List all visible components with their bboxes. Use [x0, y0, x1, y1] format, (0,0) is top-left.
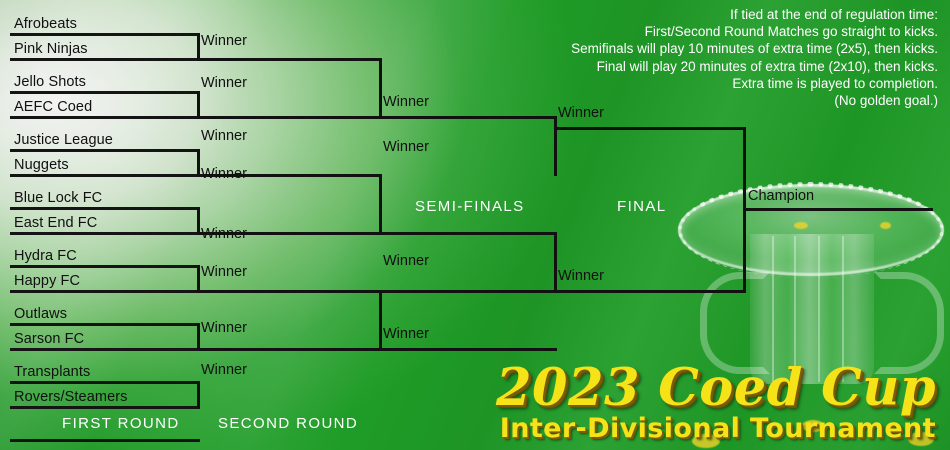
rules-line: Final will play 20 minutes of extra time…: [571, 58, 938, 75]
rules-line: Semifinals will play 10 minutes of extra…: [571, 40, 938, 57]
winner-label: Winner: [201, 128, 247, 144]
round-label-first: FIRST ROUND: [62, 415, 180, 432]
rules-line: Extra time is played to completion.: [571, 75, 938, 92]
bracket-connector: [197, 381, 200, 409]
team-underline: [10, 290, 200, 293]
second-round-line: [197, 290, 382, 293]
bracket-connector: [554, 232, 557, 292]
bracket-connector: [197, 91, 200, 119]
team-slot: Happy FC: [14, 273, 80, 289]
winner-label: Winner: [201, 75, 247, 91]
semifinal-line: [379, 348, 557, 351]
winner-label: Winner: [383, 253, 429, 269]
bracket-connector: [379, 290, 382, 351]
round-label-second: SECOND ROUND: [218, 415, 358, 432]
rules-line: (No golden goal.): [571, 92, 938, 109]
team-underline: [10, 232, 200, 235]
team-slot: AEFC Coed: [14, 99, 92, 115]
semifinal-line: [379, 116, 557, 119]
team-slot: Jello Shots: [14, 74, 86, 90]
bracket-connector: [197, 323, 200, 351]
bracket-connector: [197, 149, 200, 177]
team-underline: [10, 348, 200, 351]
bracket-connector: [197, 265, 200, 293]
team-underline: [10, 174, 200, 177]
team-underline: [10, 149, 200, 152]
team-slot: Afrobeats: [14, 16, 77, 32]
team-underline: [10, 116, 200, 119]
final-line: [554, 127, 746, 130]
team-slot: Hydra FC: [14, 248, 77, 264]
winner-label: Winner: [201, 33, 247, 49]
final-line: [554, 290, 746, 293]
winner-label: Winner: [383, 94, 429, 110]
winner-label: Winner: [201, 362, 247, 378]
round-label-semis: SEMI-FINALS: [415, 198, 525, 215]
team-slot: Transplants: [14, 364, 90, 380]
rules-line: First/Second Round Matches go straight t…: [571, 23, 938, 40]
bracket-connector: [379, 174, 382, 235]
team-underline: [10, 207, 200, 210]
winner-label: Winner: [201, 226, 247, 242]
winner-label: Winner: [383, 139, 429, 155]
bracket-connector: [197, 207, 200, 235]
winner-label: Winner: [201, 320, 247, 336]
winner-label: Winner: [201, 264, 247, 280]
winner-label: Winner: [558, 268, 604, 284]
team-slot: Pink Ninjas: [14, 41, 88, 57]
team-underline: [10, 406, 200, 409]
second-round-line: [197, 348, 382, 351]
team-underline: [10, 91, 200, 94]
team-underline: [10, 323, 200, 326]
semifinal-line: [379, 290, 557, 293]
team-underline: [10, 439, 200, 442]
team-slot: Sarson FC: [14, 331, 84, 347]
bracket-connector: [197, 33, 200, 61]
rules-line: If tied at the end of regulation time:: [571, 6, 938, 23]
team-slot: Justice League: [14, 132, 113, 148]
bracket-connector: [554, 116, 557, 176]
team-underline: [10, 265, 200, 268]
team-slot: Nuggets: [14, 157, 69, 173]
round-label-final: FINAL: [617, 198, 667, 215]
team-underline: [10, 33, 200, 36]
second-round-line: [197, 58, 382, 61]
second-round-line: [197, 116, 382, 119]
team-underline: [10, 58, 200, 61]
bracket-connector: [379, 58, 382, 119]
team-slot: Rovers/Steamers: [14, 389, 128, 405]
semifinal-line: [379, 232, 557, 235]
team-underline: [10, 381, 200, 384]
winner-label: Winner: [201, 166, 247, 182]
team-slot: Outlaws: [14, 306, 67, 322]
winner-label: Winner: [558, 105, 604, 121]
team-slot: Blue Lock FC: [14, 190, 102, 206]
tournament-rules: If tied at the end of regulation time: F…: [571, 6, 938, 109]
champion-line: [743, 208, 933, 211]
team-slot: East End FC: [14, 215, 97, 231]
bracket-poster: If tied at the end of regulation time: F…: [0, 0, 950, 450]
champion-label: Champion: [748, 188, 814, 204]
winner-label: Winner: [383, 326, 429, 342]
